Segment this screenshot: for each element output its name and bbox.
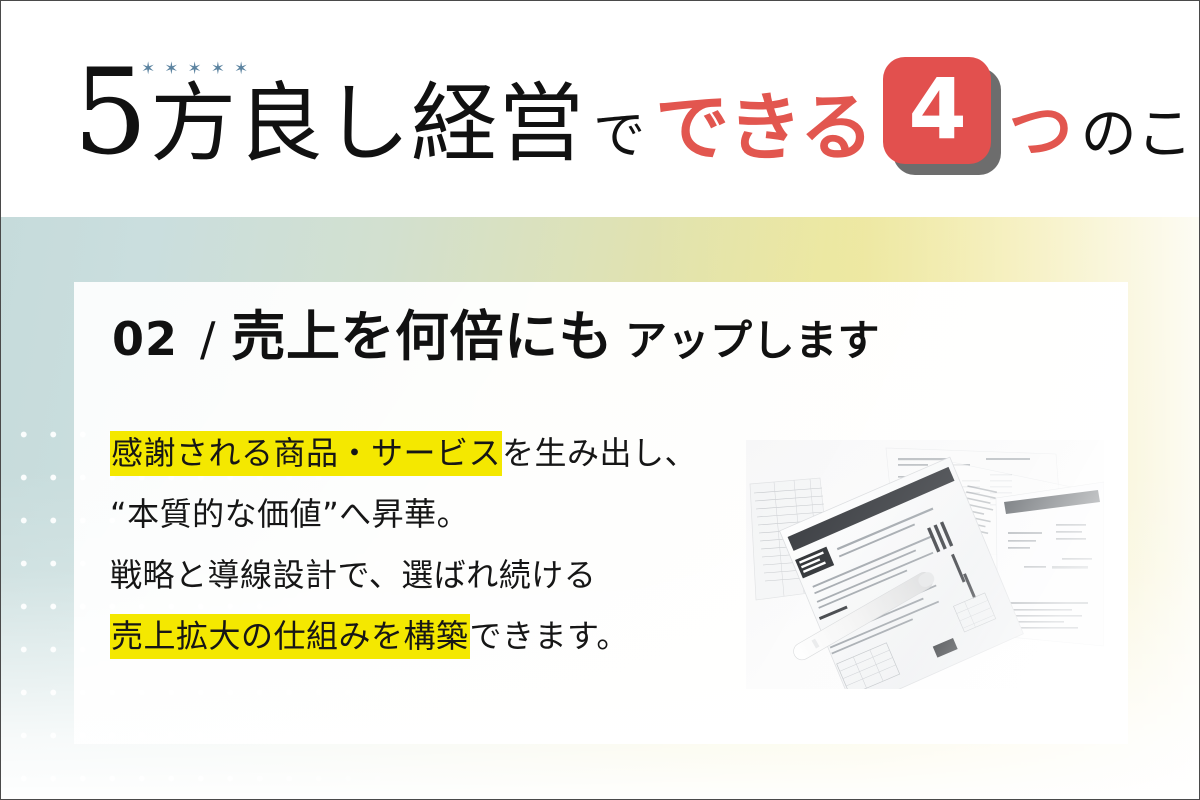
content-card: 02 / 売上を何倍にも アップします 感謝される商品・サービスを生み出し、 “… (74, 282, 1128, 744)
section-title-sub: アップします (625, 320, 880, 362)
documents-photo-illustration (746, 440, 1104, 689)
header-title-line: 5 ✶ ✶ ✶ ✶ ✶ 方良し経営 で できる 4 つ のこと (73, 53, 1200, 171)
header-tail-phrase: のこと (1081, 107, 1200, 163)
body-line-highlight: 感謝される商品・サービス (110, 431, 502, 476)
star-icon: ✶ (188, 61, 202, 78)
body-line: “本質的な価値”へ昇華。 (110, 498, 750, 530)
body-line-rest: 戦略と導線設計で、選ばれ続ける (110, 556, 596, 594)
star-icon: ✶ (141, 61, 155, 78)
section-index: 02 (112, 316, 178, 362)
number-badge: 4 (883, 57, 1001, 175)
number-badge-body: 4 (883, 57, 991, 164)
header-number-five-glyph: 5 (73, 43, 146, 181)
star-icon: ✶ (164, 61, 178, 78)
slide-root: 5 ✶ ✶ ✶ ✶ ✶ 方良し経営 で できる 4 つ のこと (0, 0, 1200, 800)
header-number-five: 5 ✶ ✶ ✶ ✶ ✶ (73, 53, 146, 171)
star-icon: ✶ (211, 61, 225, 78)
body-line-highlight: 売上拡大の仕組みを構築 (110, 614, 470, 659)
body-line: 戦略と導線設計で、選ばれ続ける (110, 559, 750, 591)
body-line-rest: “本質的な価値”へ昇華。 (110, 495, 469, 533)
documents-photo (746, 440, 1104, 689)
star-decoration-group: ✶ ✶ ✶ ✶ ✶ (141, 61, 248, 78)
header-particle-de: で (593, 110, 645, 162)
section-title-main: 売上を何倍にも (232, 310, 614, 364)
header-counter-tsu: つ (1009, 100, 1073, 164)
body-line: 売上拡大の仕組みを構築できます。 (110, 620, 750, 652)
section-heading: 02 / 売上を何倍にも アップします (112, 310, 880, 364)
section-separator: / (200, 316, 216, 362)
header-red-phrase: できる (655, 91, 873, 165)
body-line: 感謝される商品・サービスを生み出し、 (110, 437, 750, 469)
star-icon: ✶ (234, 61, 248, 78)
body-line-rest: できます。 (470, 617, 629, 655)
page-header: 5 ✶ ✶ ✶ ✶ ✶ 方良し経営 で できる 4 つ のこと (1, 1, 1199, 217)
body-text-block: 感謝される商品・サービスを生み出し、 “本質的な価値”へ昇華。 戦略と導線設計で… (110, 437, 750, 652)
body-line-rest: を生み出し、 (502, 434, 697, 472)
header-main-phrase: 方良し経営 (150, 81, 585, 167)
number-badge-value: 4 (908, 67, 964, 151)
